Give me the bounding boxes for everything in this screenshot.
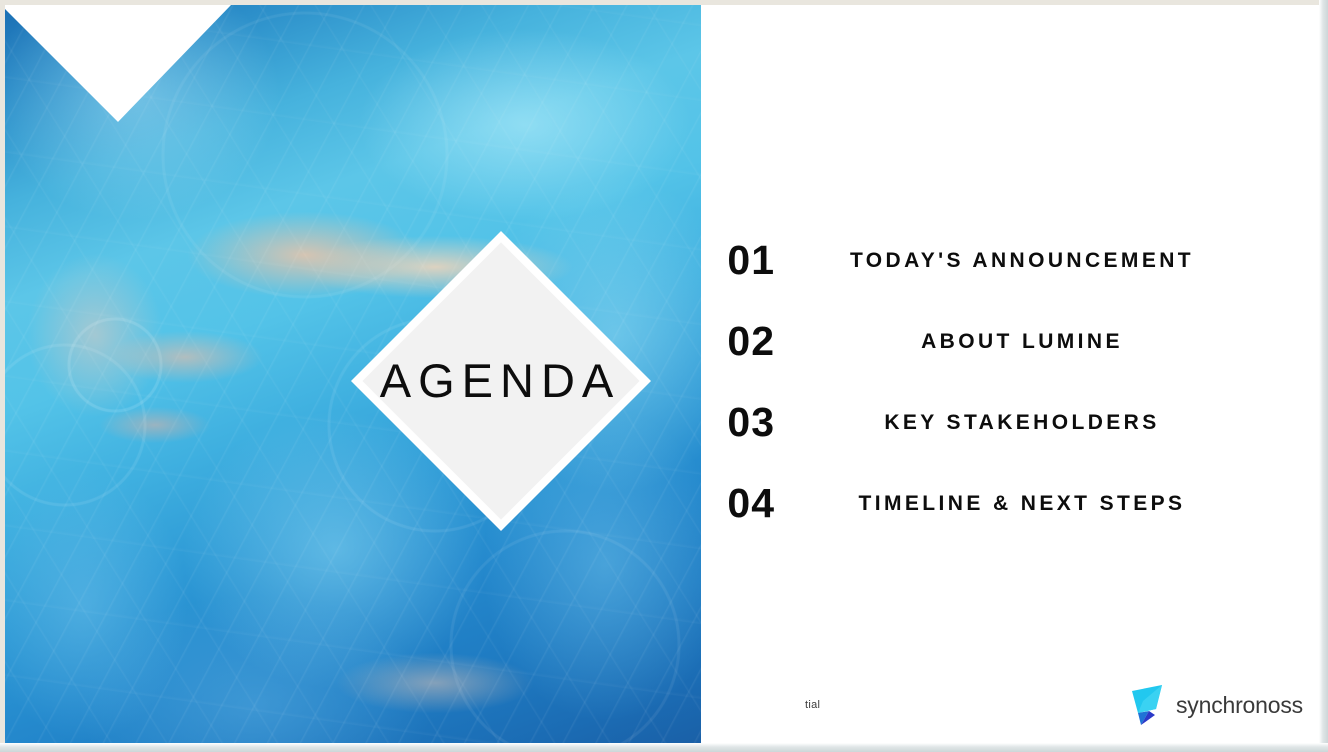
agenda-item-03[interactable]: 03 KEY STAKEHOLDERS (695, 382, 1255, 463)
footer-confidential-note: tial (805, 699, 820, 711)
agenda-item-number: 03 (695, 402, 775, 443)
window-edge-right (1319, 0, 1328, 752)
agenda-item-02[interactable]: 02 ABOUT LUMINE (695, 301, 1255, 382)
agenda-item-number: 01 (695, 240, 775, 281)
page-title: AGENDA (335, 353, 665, 408)
synchronoss-flag-icon (1129, 682, 1169, 728)
brand-wordmark: synchronoss (1176, 694, 1303, 717)
agenda-item-number: 02 (695, 321, 775, 362)
agenda-item-01[interactable]: 01 TODAY'S ANNOUNCEMENT (695, 220, 1255, 301)
brand-logo: synchronoss (1129, 681, 1277, 729)
agenda-item-04[interactable]: 04 TIMELINE & NEXT STEPS (695, 463, 1255, 544)
agenda-item-label: TODAY'S ANNOUNCEMENT (775, 249, 1255, 273)
agenda-item-label: TIMELINE & NEXT STEPS (775, 492, 1255, 516)
agenda-item-number: 04 (695, 483, 775, 524)
agenda-item-label: ABOUT LUMINE (775, 330, 1255, 354)
slide-canvas: AGENDA 01 TODAY'S ANNOUNCEMENT 02 ABOUT … (5, 5, 1321, 747)
agenda-item-label: KEY STAKEHOLDERS (775, 411, 1255, 435)
window-edge-bottom (0, 743, 1328, 752)
slide-window-frame: AGENDA 01 TODAY'S ANNOUNCEMENT 02 ABOUT … (0, 0, 1328, 752)
agenda-list: 01 TODAY'S ANNOUNCEMENT 02 ABOUT LUMINE … (695, 220, 1255, 544)
